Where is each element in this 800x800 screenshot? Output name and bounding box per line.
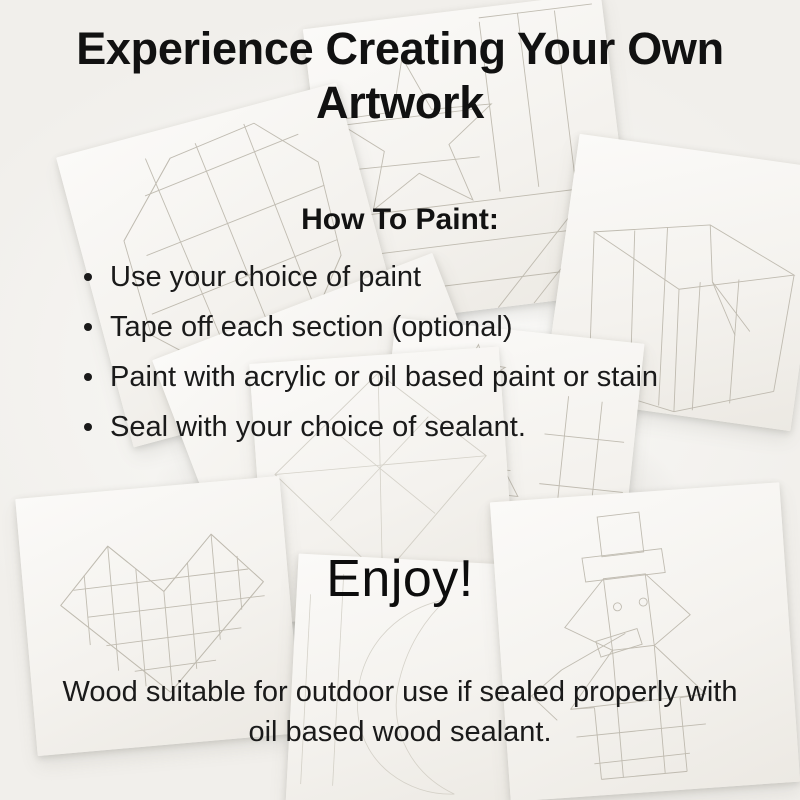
list-item: Seal with your choice of sealant. xyxy=(78,402,768,452)
step-text: Seal with your choice of sealant. xyxy=(110,411,526,443)
poster-canvas: Experience Creating Your Own Artwork How… xyxy=(0,0,800,800)
steps-list: Use your choice of paint Tape off each s… xyxy=(78,252,768,452)
closing-text: Enjoy! xyxy=(0,550,800,608)
step-text: Use your choice of paint xyxy=(110,261,421,293)
how-to-paint-heading: How To Paint: xyxy=(0,203,800,237)
list-item: Use your choice of paint xyxy=(78,252,768,302)
text-overlay: Experience Creating Your Own Artwork How… xyxy=(0,0,800,800)
footnote-text: Wood suitable for outdoor use if sealed … xyxy=(50,672,750,752)
bullet-icon xyxy=(84,423,92,431)
list-item: Paint with acrylic or oil based paint or… xyxy=(78,352,768,402)
page-title: Experience Creating Your Own Artwork xyxy=(0,22,800,130)
list-item: Tape off each section (optional) xyxy=(78,302,768,352)
step-text: Paint with acrylic or oil based paint or… xyxy=(110,361,658,393)
step-text: Tape off each section (optional) xyxy=(110,311,513,343)
bullet-icon xyxy=(84,273,92,281)
bullet-icon xyxy=(84,323,92,331)
bullet-icon xyxy=(84,373,92,381)
